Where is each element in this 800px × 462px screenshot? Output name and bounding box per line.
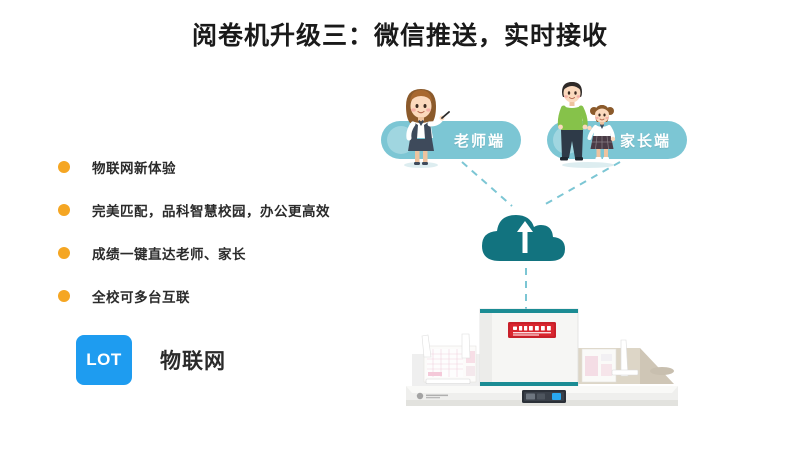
list-item-label: 全校可多台互联	[92, 286, 190, 306]
bullet-dot-icon	[58, 247, 70, 259]
node-label-teacher: 老师端	[454, 130, 505, 151]
list-item: 成绩一键直达老师、家长	[58, 234, 388, 272]
parent-and-child-figure-icon	[550, 78, 628, 168]
iot-badge: LOT	[76, 335, 132, 385]
upload-arrow-icon	[516, 219, 534, 255]
list-item: 全校可多台互联	[58, 277, 388, 315]
bullet-dot-icon	[58, 204, 70, 216]
iot-badge-label: LOT	[86, 350, 122, 370]
iot-badge-block: LOT 物联网	[76, 335, 226, 385]
feature-bullet-list: 物联网新体验 完美匹配，品科智慧校园，办公更高效 成绩一键直达老师、家长 全校可…	[58, 148, 388, 320]
list-item-label: 完美匹配，品科智慧校园，办公更高效	[92, 200, 330, 220]
iot-caption-label: 物联网	[160, 345, 226, 375]
bullet-dot-icon	[58, 290, 70, 302]
page-title: 阅卷机升级三：微信推送，实时接收	[0, 16, 800, 52]
list-item: 物联网新体验	[58, 148, 388, 186]
exam-scanner-machine-icon	[400, 296, 700, 418]
list-item: 完美匹配，品科智慧校园，办公更高效	[58, 191, 388, 229]
slide-canvas: 阅卷机升级三：微信推送，实时接收 物联网新体验 完美匹配，品科智慧校园，办公更高…	[0, 0, 800, 462]
teacher-figure-icon	[392, 84, 450, 168]
list-item-label: 物联网新体验	[92, 157, 176, 177]
list-item-label: 成绩一键直达老师、家长	[92, 243, 246, 263]
cloud-upload-icon	[478, 203, 570, 265]
bullet-dot-icon	[58, 161, 70, 173]
iot-architecture-diagram: 老师端	[370, 78, 770, 438]
